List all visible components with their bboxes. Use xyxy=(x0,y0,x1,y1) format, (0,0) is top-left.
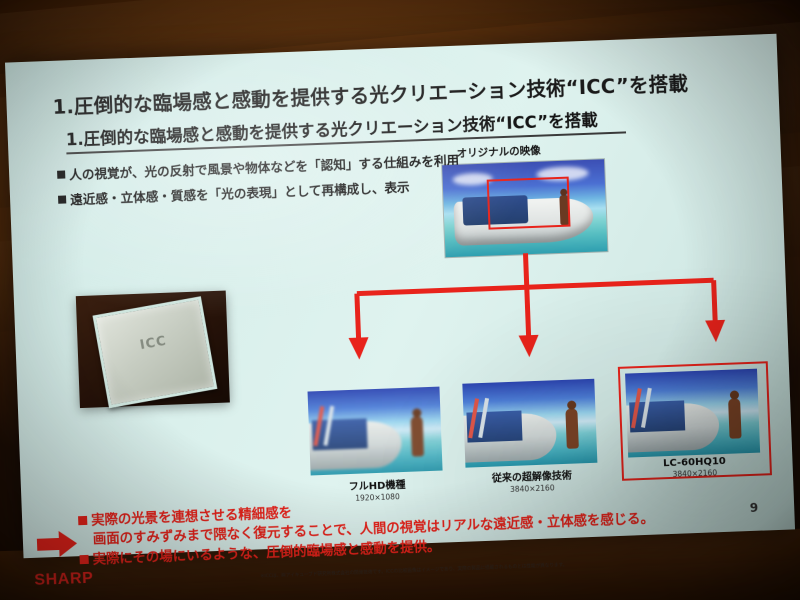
square-bullet-icon xyxy=(58,195,66,203)
seascape-image xyxy=(462,379,597,468)
comparison-photo-fullhd xyxy=(308,387,443,476)
comparison-photo-conventional xyxy=(462,379,597,468)
caption-resolution: 3840×2160 xyxy=(629,467,761,481)
original-image-caption: オリジナルの映像 xyxy=(456,143,541,161)
person-figure xyxy=(565,408,578,448)
photo-of-projected-slide: 1.圧倒的な臨場感と感動を提供する光クリエーション技術“ICC”を搭載 1.圧倒… xyxy=(0,0,800,600)
big-right-arrow-icon xyxy=(37,530,78,557)
bullet-list: 人の視覚が、光の反射で風景や物体などを「認知」する仕組みを利用 遠近感・立体感・… xyxy=(57,149,489,215)
comparison-caption-conventional: 従来の超解像技術 3840×2160 xyxy=(466,466,599,496)
bullet-text: 遠近感・立体感・質感を「光の表現」として再構成し、表示 xyxy=(70,180,410,208)
arrowhead-right-icon xyxy=(705,320,726,343)
square-bullet-icon xyxy=(78,516,87,525)
crop-region-highlight xyxy=(487,177,571,230)
square-bullet-icon xyxy=(57,170,65,178)
softness-overlay xyxy=(308,387,443,476)
presentation-slide: 1.圧倒的な臨場感と感動を提供する光クリエーション技術“ICC”を搭載 1.圧倒… xyxy=(5,34,795,559)
comparison-caption-lc60hq10: LC-60HQ10 3840×2160 xyxy=(628,455,761,481)
arrowhead-left-icon xyxy=(349,337,370,360)
slide-title: 1.圧倒的な臨場感と感動を提供する光クリエーション技術“ICC”を搭載 xyxy=(52,65,743,120)
arrowhead-center-icon xyxy=(519,335,540,358)
sharp-logo: SHARP xyxy=(34,570,94,590)
icc-chip-photo: ICC xyxy=(76,291,230,409)
original-source-photo xyxy=(441,158,608,258)
square-bullet-icon xyxy=(79,555,88,564)
caption-label: フルHD機種 xyxy=(349,480,406,493)
page-number: 9 xyxy=(750,501,759,515)
chip-package-shape: ICC xyxy=(93,296,218,408)
chip-label: ICC xyxy=(139,334,168,354)
